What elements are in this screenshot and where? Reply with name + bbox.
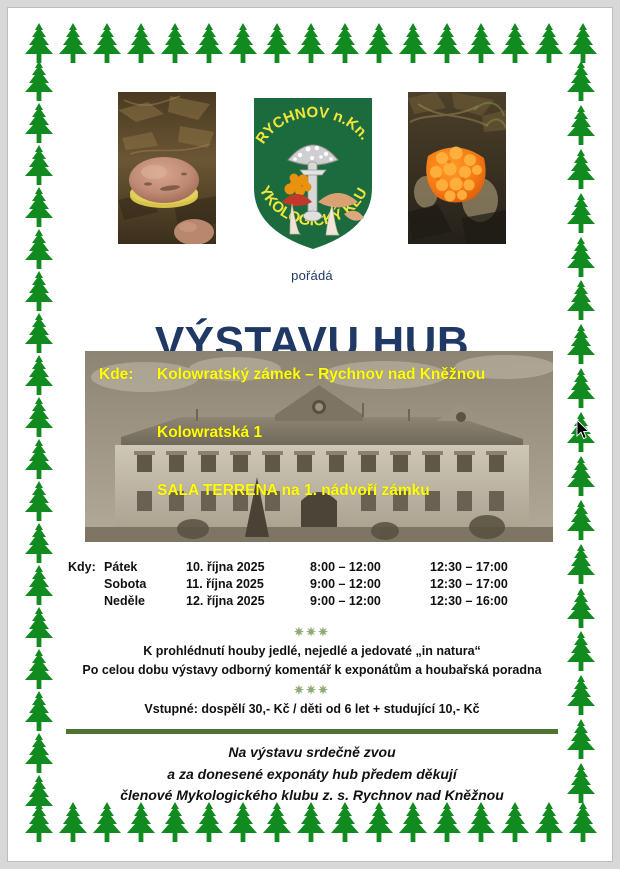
fir-tree-icon	[564, 411, 598, 453]
mushroom-photo-left	[118, 92, 216, 244]
fir-tree-icon	[124, 801, 158, 843]
fir-tree-icon	[22, 144, 56, 186]
fir-tree-icon	[564, 60, 598, 102]
fir-tree-icon	[22, 22, 56, 64]
fir-tree-icon	[192, 801, 226, 843]
club-logo: RYCHNOV n.Kn. MYKOLOGICKÝ KLUB	[240, 86, 386, 262]
fir-tree-icon	[22, 186, 56, 228]
star-separator: ✷✷✷	[60, 684, 564, 696]
schedule-afternoon: 12:30 – 17:00	[430, 558, 550, 575]
schedule-date: 12. října 2025	[186, 592, 310, 609]
fir-tree-icon	[396, 22, 430, 64]
fir-tree-icon	[566, 801, 600, 843]
mushroom-photo-right	[408, 92, 506, 244]
schedule-label-spacer	[68, 575, 104, 592]
info-line-1: K prohlédnutí houby jedlé, nejedlé a jed…	[60, 642, 564, 661]
fir-tree-icon	[328, 801, 362, 843]
fir-tree-icon	[564, 148, 598, 190]
screen: RYCHNOV n.Kn. MYKOLOGICKÝ KLUB	[0, 0, 620, 869]
fir-tree-icon	[564, 192, 598, 234]
closing-line-1: Na výstavu srdečně zvou	[60, 742, 564, 764]
admission-line: Vstupné: dospělí 30,- Kč / děti od 6 let…	[60, 700, 564, 719]
fir-tree-icon	[226, 22, 260, 64]
schedule-table: Kdy: Pátek 10. října 2025 8:00 – 12:00 1…	[68, 558, 550, 609]
fir-tree-icon	[192, 22, 226, 64]
fir-tree-icon	[22, 522, 56, 564]
fir-tree-icon	[430, 801, 464, 843]
fir-tree-icon	[260, 22, 294, 64]
tree-border-top	[22, 22, 598, 64]
fir-tree-icon	[90, 22, 124, 64]
fir-tree-icon	[564, 587, 598, 629]
fir-tree-icon	[564, 455, 598, 497]
fir-tree-icon	[498, 801, 532, 843]
fir-tree-icon	[22, 60, 56, 102]
schedule-morning: 9:00 – 12:00	[310, 575, 430, 592]
fir-tree-icon	[564, 104, 598, 146]
fir-tree-icon	[564, 630, 598, 672]
fir-tree-icon	[22, 564, 56, 606]
fir-tree-icon	[22, 480, 56, 522]
fir-tree-icon	[158, 801, 192, 843]
fir-tree-icon	[22, 102, 56, 144]
fir-tree-icon	[498, 22, 532, 64]
fir-tree-icon	[362, 801, 396, 843]
fir-tree-icon	[464, 22, 498, 64]
schedule-section: Kdy: Pátek 10. října 2025 8:00 – 12:00 1…	[60, 558, 564, 609]
fir-tree-icon	[328, 22, 362, 64]
fir-tree-icon	[22, 354, 56, 396]
venue-street: Kolowratská 1	[157, 424, 262, 442]
info-block: K prohlédnutí houby jedlé, nejedlé a jed…	[60, 642, 564, 681]
tree-border-left	[22, 60, 56, 804]
admission-block: Vstupné: dospělí 30,- Kč / děti od 6 let…	[60, 700, 564, 719]
fir-tree-icon	[564, 499, 598, 541]
fir-tree-icon	[22, 648, 56, 690]
fir-tree-icon	[22, 774, 56, 816]
fir-tree-icon	[532, 22, 566, 64]
schedule-date: 11. října 2025	[186, 575, 310, 592]
fir-tree-icon	[564, 543, 598, 585]
fir-tree-icon	[564, 674, 598, 716]
star-separator: ✷✷✷	[60, 626, 564, 638]
closing-line-2: a za donesené exponáty hub předem děkují	[60, 764, 564, 786]
tree-border-right	[564, 60, 598, 804]
fir-tree-icon	[566, 22, 600, 64]
fir-tree-icon	[22, 690, 56, 732]
fir-tree-icon	[362, 22, 396, 64]
fir-tree-icon	[396, 801, 430, 843]
header-strip: RYCHNOV n.Kn. MYKOLOGICKÝ KLUB	[60, 92, 564, 244]
fir-tree-icon	[22, 606, 56, 648]
closing-line-3: členové Mykologického klubu z. s. Rychno…	[60, 785, 564, 807]
fir-tree-icon	[22, 270, 56, 312]
fir-tree-icon	[22, 732, 56, 774]
fir-tree-icon	[90, 801, 124, 843]
closing-block: Na výstavu srdečně zvou a za donesené ex…	[60, 742, 564, 807]
fir-tree-icon	[22, 312, 56, 354]
schedule-label-spacer	[68, 592, 104, 609]
organizer-line: pořádá	[60, 268, 564, 283]
schedule-morning: 8:00 – 12:00	[310, 558, 430, 575]
schedule-morning: 9:00 – 12:00	[310, 592, 430, 609]
fir-tree-icon	[22, 396, 56, 438]
schedule-afternoon: 12:30 – 16:00	[430, 592, 550, 609]
schedule-label: Kdy:	[68, 558, 104, 575]
schedule-day: Neděle	[104, 592, 186, 609]
fir-tree-icon	[158, 22, 192, 64]
table-row: Neděle 12. října 2025 9:00 – 12:00 12:30…	[68, 592, 550, 609]
fir-tree-icon	[564, 236, 598, 278]
venue-label: Kde:	[99, 366, 133, 384]
fir-tree-icon	[564, 718, 598, 760]
fir-tree-icon	[430, 22, 464, 64]
table-row: Sobota 11. října 2025 9:00 – 12:00 12:30…	[68, 575, 550, 592]
fir-tree-icon	[22, 228, 56, 270]
venue-place: Kolowratský zámek – Rychnov nad Kněžnou	[157, 366, 485, 384]
fir-tree-icon	[464, 801, 498, 843]
fir-tree-icon	[532, 801, 566, 843]
schedule-afternoon: 12:30 – 17:00	[430, 575, 550, 592]
schedule-day: Pátek	[104, 558, 186, 575]
fir-tree-icon	[564, 762, 598, 804]
fir-tree-icon	[56, 801, 90, 843]
divider	[66, 729, 558, 734]
fir-tree-icon	[564, 323, 598, 365]
poster-content: RYCHNOV n.Kn. MYKOLOGICKÝ KLUB	[60, 64, 564, 804]
venue-block: Kde: Kolowratský zámek – Rychnov nad Kně…	[85, 351, 553, 542]
fir-tree-icon	[56, 22, 90, 64]
info-line-2: Po celou dobu výstavy odborný komentář k…	[60, 661, 564, 680]
fir-tree-icon	[294, 801, 328, 843]
fir-tree-icon	[226, 801, 260, 843]
schedule-day: Sobota	[104, 575, 186, 592]
venue-hall: SALA TERRENA na 1. nádvoří zámku	[157, 482, 430, 500]
table-row: Kdy: Pátek 10. října 2025 8:00 – 12:00 1…	[68, 558, 550, 575]
fir-tree-icon	[564, 279, 598, 321]
poster-page: RYCHNOV n.Kn. MYKOLOGICKÝ KLUB	[8, 8, 612, 861]
fir-tree-icon	[22, 438, 56, 480]
fir-tree-icon	[260, 801, 294, 843]
schedule-date: 10. října 2025	[186, 558, 310, 575]
tree-border-bottom	[22, 801, 598, 843]
fir-tree-icon	[124, 22, 158, 64]
fir-tree-icon	[294, 22, 328, 64]
fir-tree-icon	[564, 367, 598, 409]
